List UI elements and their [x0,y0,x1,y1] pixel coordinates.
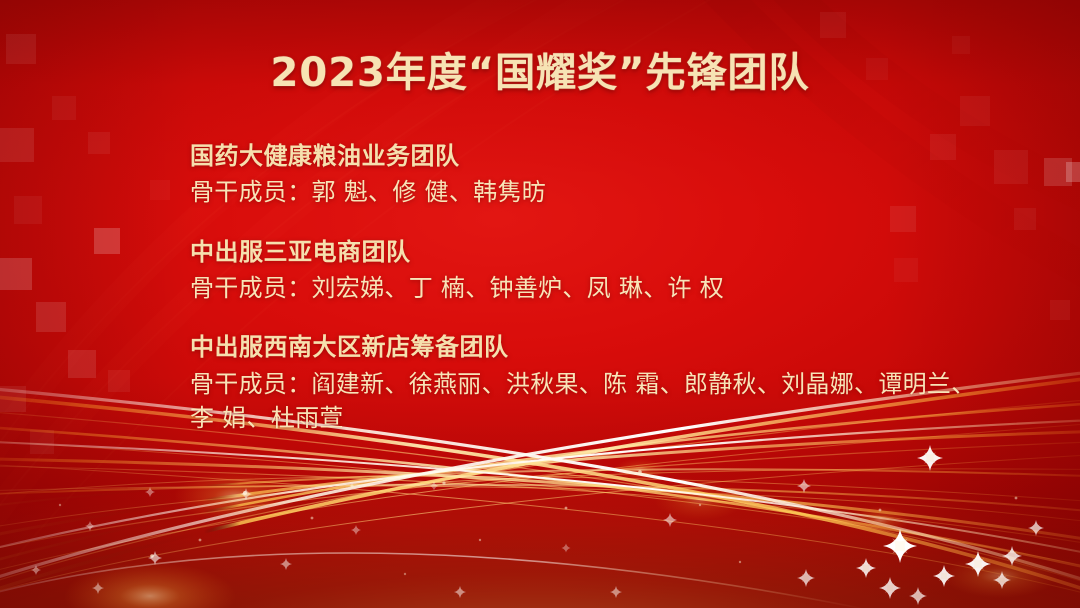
award-slide: 2023年度“国耀奖”先锋团队 国药大健康粮油业务团队骨干成员：郭 魁、修 健、… [0,0,1080,608]
team-members: 骨干成员：刘宏娣、丁 楠、钟善炉、凤 琳、许 权 [190,271,980,306]
page-title: 2023年度“国耀奖”先锋团队 [0,40,1080,98]
team-name: 中出服三亚电商团队 [190,236,1020,268]
team-members: 骨干成员：郭 魁、修 健、韩隽昉 [190,175,980,210]
team-block: 中出服三亚电商团队骨干成员：刘宏娣、丁 楠、钟善炉、凤 琳、许 权 [190,236,1020,306]
team-name: 中出服西南大区新店筹备团队 [190,331,1020,363]
team-name: 国药大健康粮油业务团队 [190,140,1020,172]
team-list: 国药大健康粮油业务团队骨干成员：郭 魁、修 健、韩隽昉中出服三亚电商团队骨干成员… [190,140,1020,436]
team-block: 中出服西南大区新店筹备团队骨干成员：阎建新、徐燕丽、洪秋果、陈 霜、郎静秋、刘晶… [190,331,1020,435]
team-members: 骨干成员：阎建新、徐燕丽、洪秋果、陈 霜、郎静秋、刘晶娜、谭明兰、李 娟、杜雨萱 [190,367,980,436]
slide-content: 2023年度“国耀奖”先锋团队 国药大健康粮油业务团队骨干成员：郭 魁、修 健、… [0,0,1080,608]
team-block: 国药大健康粮油业务团队骨干成员：郭 魁、修 健、韩隽昉 [190,140,1020,210]
